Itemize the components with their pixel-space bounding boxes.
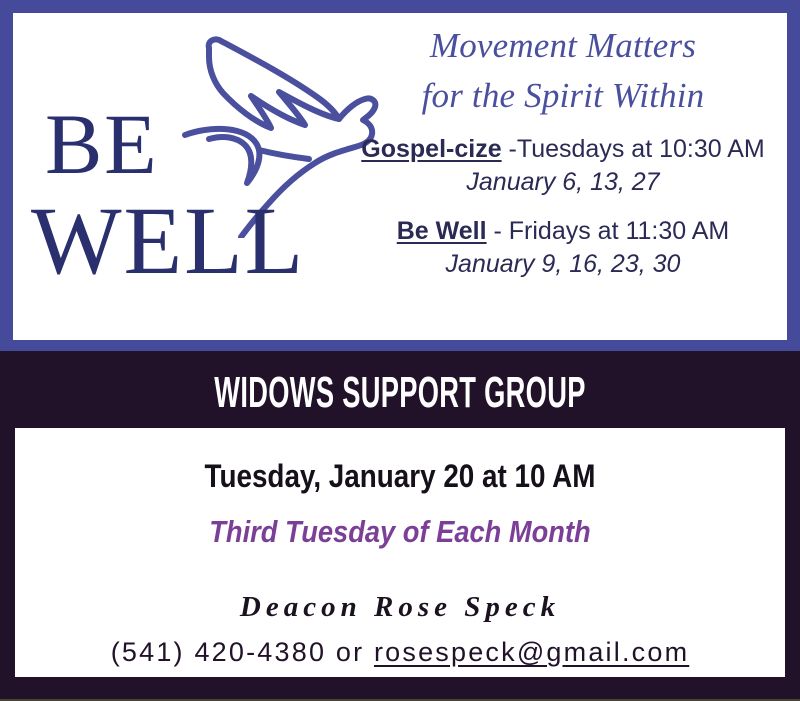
contact-conjunction: or: [326, 637, 374, 667]
tagline-line-2: for the Spirit Within: [343, 71, 783, 121]
widows-support-group-panel: WIDOWS SUPPORT GROUP Tuesday, January 20…: [0, 351, 800, 699]
class-dates-gospelcize: January 6, 13, 27: [343, 166, 783, 199]
be-well-details: Movement Matters for the Spirit Within G…: [343, 21, 783, 280]
logo-word-well: WELL: [31, 193, 305, 289]
class-schedule-line: Be Well - Fridays at 11:30 AM: [343, 216, 783, 248]
class-entry-bewell: Be Well - Fridays at 11:30 AM January 9,…: [343, 216, 783, 280]
class-entry-gospelcize: Gospel-cize -Tuesdays at 10:30 AM Januar…: [343, 134, 783, 198]
class-name-bewell: Be Well: [397, 217, 487, 245]
class-schedule-bewell: - Fridays at 11:30 AM: [487, 217, 730, 245]
meeting-recurrence: Third Tuesday of Each Month: [61, 516, 739, 547]
be-well-panel-inner: BE WELL Movement Matters for the Spirit …: [13, 13, 787, 340]
contact-email[interactable]: rosespeck@gmail.com: [374, 637, 689, 667]
contact-line: (541) 420-4380 or rosespeck@gmail.com: [15, 639, 785, 666]
logo-word-be: BE: [45, 101, 158, 187]
class-name-gospelcize: Gospel-cize: [361, 135, 501, 163]
tagline-line-1: Movement Matters: [343, 21, 783, 71]
flyer-root: BE WELL Movement Matters for the Spirit …: [0, 0, 800, 701]
widows-support-group-details: Tuesday, January 20 at 10 AM Third Tuesd…: [15, 428, 785, 677]
widows-support-group-title: WIDOWS SUPPORT GROUP: [152, 371, 648, 415]
class-schedule-gospelcize: -Tuesdays at 10:30 AM: [502, 135, 765, 163]
contact-phone[interactable]: (541) 420-4380: [111, 637, 326, 667]
class-schedule-line: Gospel-cize -Tuesdays at 10:30 AM: [343, 134, 783, 166]
be-well-panel: BE WELL Movement Matters for the Spirit …: [0, 0, 800, 351]
meeting-date: Tuesday, January 20 at 10 AM: [65, 460, 735, 492]
contact-name: Deacon Rose Speck: [15, 593, 785, 622]
class-dates-bewell: January 9, 16, 23, 30: [343, 248, 783, 281]
be-well-logo: BE WELL: [21, 23, 351, 313]
